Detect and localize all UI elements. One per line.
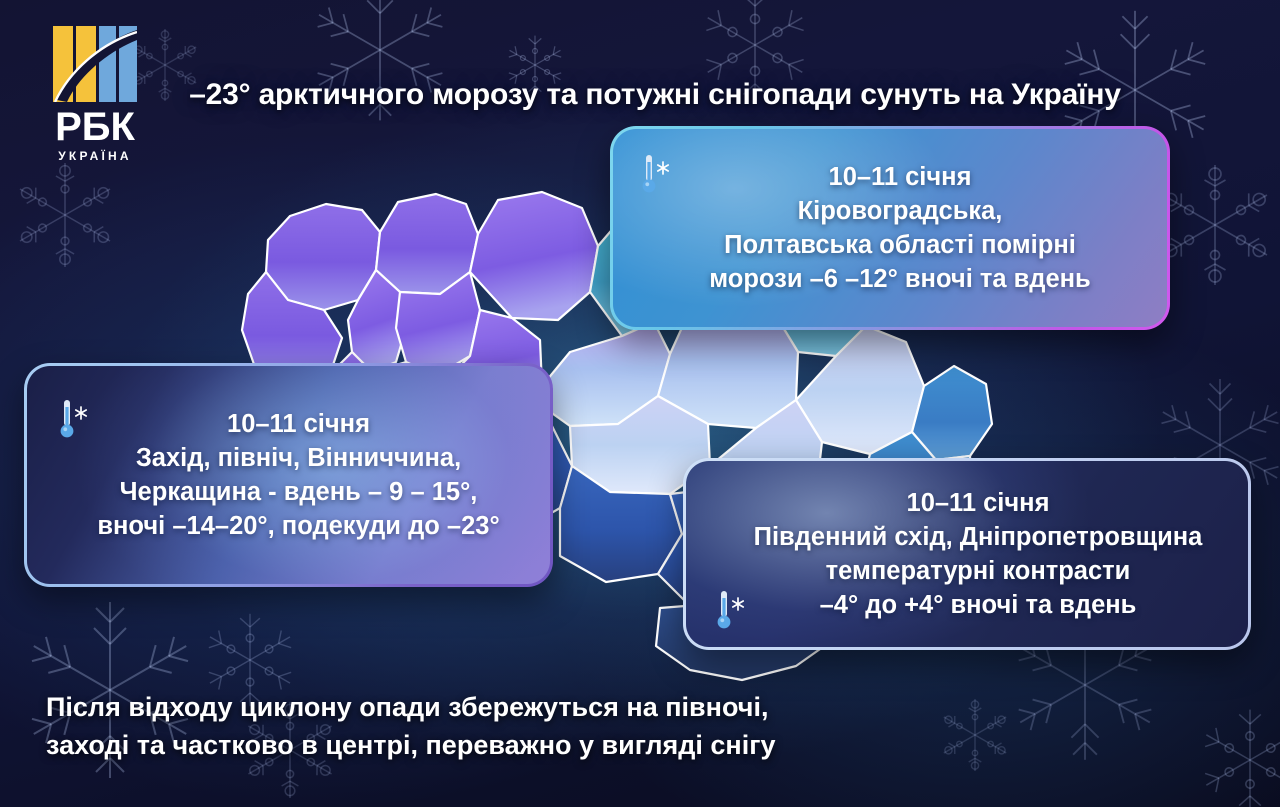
logo-rbk-text: РБК [53, 106, 137, 148]
thermometer-snowflake-icon [714, 589, 748, 633]
thermometer-snowflake-icon [639, 153, 673, 197]
card-line: –4° до +4° вночі та вдень [754, 588, 1203, 622]
caption-line-1: Після відходу циклону опади збережуться … [46, 688, 1046, 726]
card-text: 10–11 січня Південний схід, Дніпропетров… [714, 486, 1221, 623]
card-line: Південний схід, Дніпропетровщина [754, 520, 1203, 554]
caption-line-2: заході та частково в центрі, переважно у… [46, 726, 1046, 764]
snowflake-icon [0, 150, 130, 280]
card-line: вночі –14–20°, подекуди до –23° [97, 509, 499, 543]
infographic-poster: РБК УКРАЇНА –23° арктичного морозу та по… [0, 0, 1280, 807]
logo-ukraine-text: УКРАЇНА [53, 149, 137, 163]
card-line: Черкащина - вдень – 9 – 15°, [97, 475, 499, 509]
callout-card-west-north: 10–11 січня Захід, північ, Вінниччина, Ч… [24, 363, 553, 587]
card-line: Полтавська області помірні [709, 228, 1091, 262]
card-text: 10–11 січня Захід, північ, Вінниччина, Ч… [63, 407, 513, 544]
region-zhytomyr [470, 192, 598, 320]
card-line: Захід, північ, Вінниччина, [97, 441, 499, 475]
card-line: 10–11 січня [97, 407, 499, 441]
card-body: 10–11 січня Південний схід, Дніпропетров… [686, 461, 1248, 647]
card-line: Кіровоградська, [709, 194, 1091, 228]
card-line: морози –6 –12° вночі та вдень [709, 262, 1091, 296]
card-text: 10–11 січня Кіровоградська, Полтавська о… [663, 160, 1117, 297]
page-title: –23° арктичного морозу та потужні снігоп… [0, 78, 1280, 112]
callout-card-kirovohrad-poltava: 10–11 січня Кіровоградська, Полтавська о… [610, 126, 1170, 330]
card-body: 10–11 січня Кіровоградська, Полтавська о… [613, 129, 1167, 327]
thermometer-snowflake-icon [57, 398, 91, 442]
card-line: 10–11 січня [754, 486, 1203, 520]
footer-caption: Після відходу циклону опади збережуться … [46, 688, 1046, 765]
card-line: 10–11 січня [709, 160, 1091, 194]
snowflake-icon [1190, 700, 1280, 807]
card-body: 10–11 січня Захід, північ, Вінниччина, Ч… [27, 366, 550, 584]
callout-card-southeast-dnipro: 10–11 січня Південний схід, Дніпропетров… [683, 458, 1251, 650]
card-line: температурні контрасти [754, 554, 1203, 588]
